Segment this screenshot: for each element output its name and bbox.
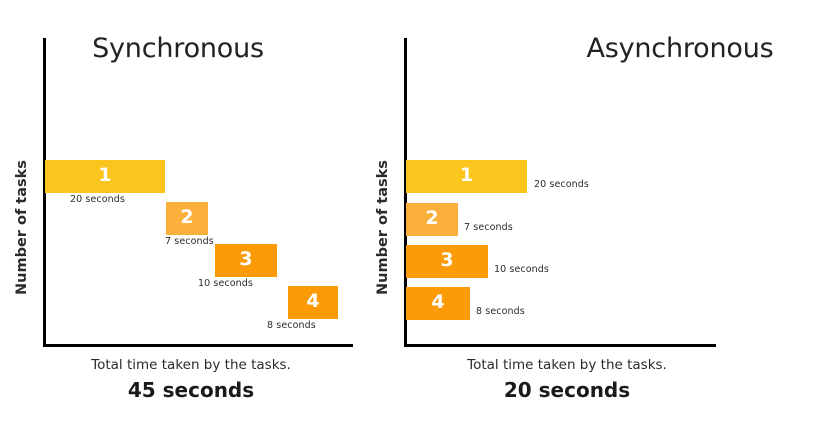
bar-task-1-synchronous: 1: [45, 160, 165, 193]
bar-caption-task-1-asynchronous: 20 seconds: [534, 179, 589, 190]
bar-task-2-asynchronous: 2: [406, 203, 458, 236]
bar-caption-task-4-synchronous: 8 seconds: [267, 320, 316, 331]
bar-task-3-asynchronous: 3: [406, 245, 488, 278]
x-axis-label-asynchronous: Total time taken by the tasks.: [351, 357, 783, 373]
total-time-asynchronous: 20 seconds: [351, 378, 783, 402]
bar-task-4-asynchronous: 4: [406, 287, 470, 320]
bar-label-task-4-synchronous: 4: [306, 292, 319, 311]
bar-label-task-2-synchronous: 2: [180, 208, 193, 227]
bar-label-task-3-asynchronous: 3: [440, 251, 453, 270]
bar-label-task-2-asynchronous: 2: [425, 209, 438, 228]
bar-caption-task-2-synchronous: 7 seconds: [165, 236, 214, 247]
bar-caption-task-1-synchronous: 20 seconds: [70, 194, 125, 205]
bar-caption-task-3-synchronous: 10 seconds: [198, 278, 253, 289]
bar-label-task-1-asynchronous: 1: [460, 166, 473, 185]
bar-task-4-synchronous: 4: [288, 286, 338, 319]
x-axis-line-synchronous: [43, 344, 353, 347]
bar-task-1-asynchronous: 1: [406, 160, 527, 193]
panel-title-asynchronous: Asynchronous: [464, 33, 828, 64]
bar-label-task-3-synchronous: 3: [239, 250, 252, 269]
total-time-synchronous: 45 seconds: [0, 378, 391, 402]
bar-caption-task-4-asynchronous: 8 seconds: [476, 306, 525, 317]
bar-task-3-synchronous: 3: [215, 244, 277, 277]
y-axis-label-synchronous: Number of tasks: [14, 160, 30, 295]
bar-label-task-1-synchronous: 1: [98, 166, 111, 185]
chart-panel-synchronous: Synchronous Number of tasks 1 20 seconds…: [0, 0, 400, 430]
bar-label-task-4-asynchronous: 4: [431, 293, 444, 312]
panel-title-synchronous: Synchronous: [0, 33, 378, 64]
y-axis-label-asynchronous: Number of tasks: [375, 160, 391, 295]
bar-task-2-synchronous: 2: [166, 202, 208, 235]
bar-caption-task-2-asynchronous: 7 seconds: [464, 222, 513, 233]
x-axis-line-asynchronous: [404, 344, 716, 347]
bar-caption-task-3-asynchronous: 10 seconds: [494, 264, 549, 275]
x-axis-label-synchronous: Total time taken by the tasks.: [0, 357, 391, 373]
chart-panel-asynchronous: Asynchronous Number of tasks 1 20 second…: [396, 0, 828, 430]
